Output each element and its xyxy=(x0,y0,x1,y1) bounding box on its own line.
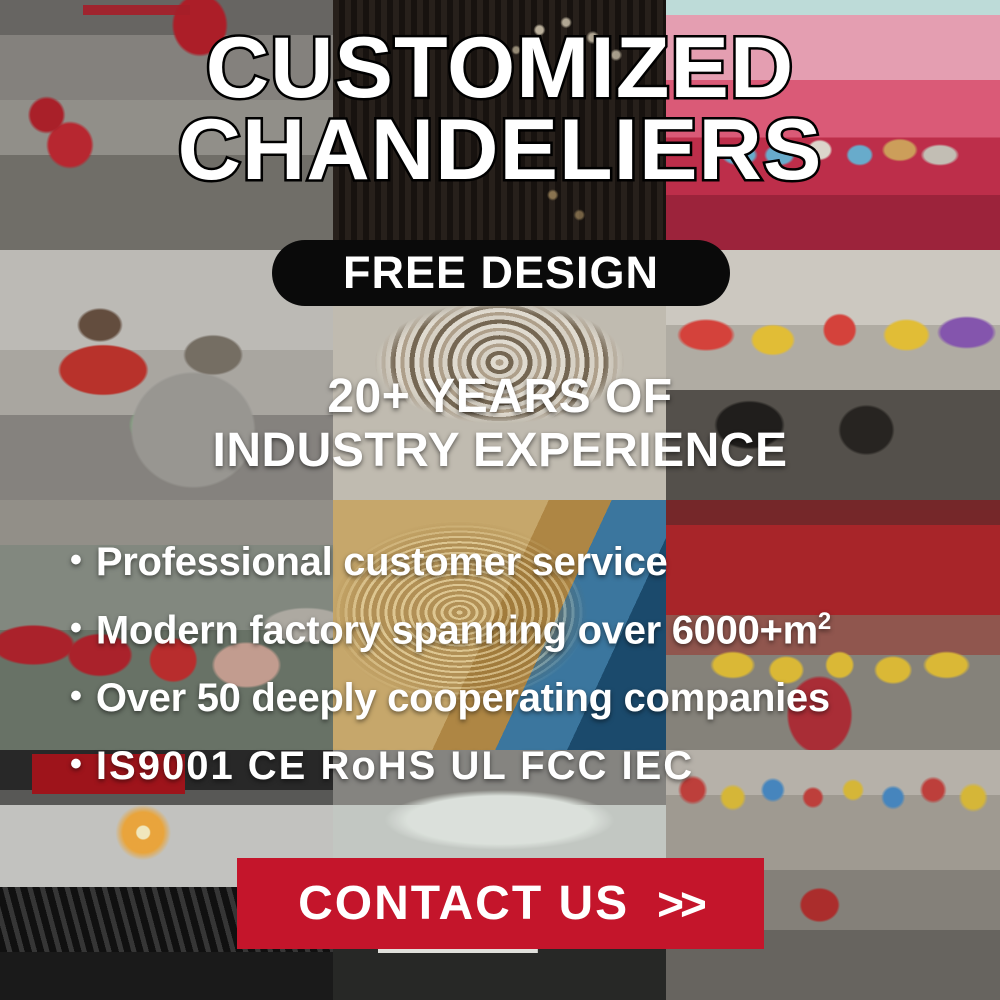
list-item-label: Professional customer service xyxy=(96,542,668,582)
certification-list-label: IS9001 CE RoHS UL FCC IEC xyxy=(96,746,694,786)
list-item: • IS9001 CE RoHS UL FCC IEC xyxy=(70,746,960,814)
feature-bullet-list: • Professional customer service • Modern… xyxy=(70,542,960,814)
list-item-label: Modern factory spanning over 6000+m2 xyxy=(96,610,831,650)
contact-us-button-label: CONTACT US xyxy=(298,876,629,931)
list-item-text: Modern factory spanning over 6000+m xyxy=(96,608,818,652)
promo-banner: CUSTOMIZED CHANDELIERS FREE DESIGN 20+ Y… xyxy=(0,0,1000,1000)
list-item: • Over 50 deeply cooperating companies xyxy=(70,678,960,746)
bullet-dot-icon: • xyxy=(70,679,82,713)
list-item: • Professional customer service xyxy=(70,542,960,610)
page-title: CUSTOMIZED CHANDELIERS xyxy=(0,28,1000,191)
bullet-dot-icon: • xyxy=(70,747,82,781)
bullet-dot-icon: • xyxy=(70,543,82,577)
double-chevron-right-icon: >> xyxy=(657,877,703,931)
list-item: • Modern factory spanning over 6000+m2 xyxy=(70,610,960,678)
list-item-label: Over 50 deeply cooperating companies xyxy=(96,678,830,718)
text-overlay: CUSTOMIZED CHANDELIERS FREE DESIGN 20+ Y… xyxy=(0,0,1000,1000)
free-design-badge: FREE DESIGN xyxy=(272,240,730,306)
free-design-badge-label: FREE DESIGN xyxy=(343,247,659,299)
experience-heading: 20+ YEARS OF INDUSTRY EXPERIENCE xyxy=(0,370,1000,478)
contact-us-button[interactable]: CONTACT US >> xyxy=(237,858,764,949)
superscript-unit: 2 xyxy=(818,608,831,635)
bullet-dot-icon: • xyxy=(70,611,82,645)
